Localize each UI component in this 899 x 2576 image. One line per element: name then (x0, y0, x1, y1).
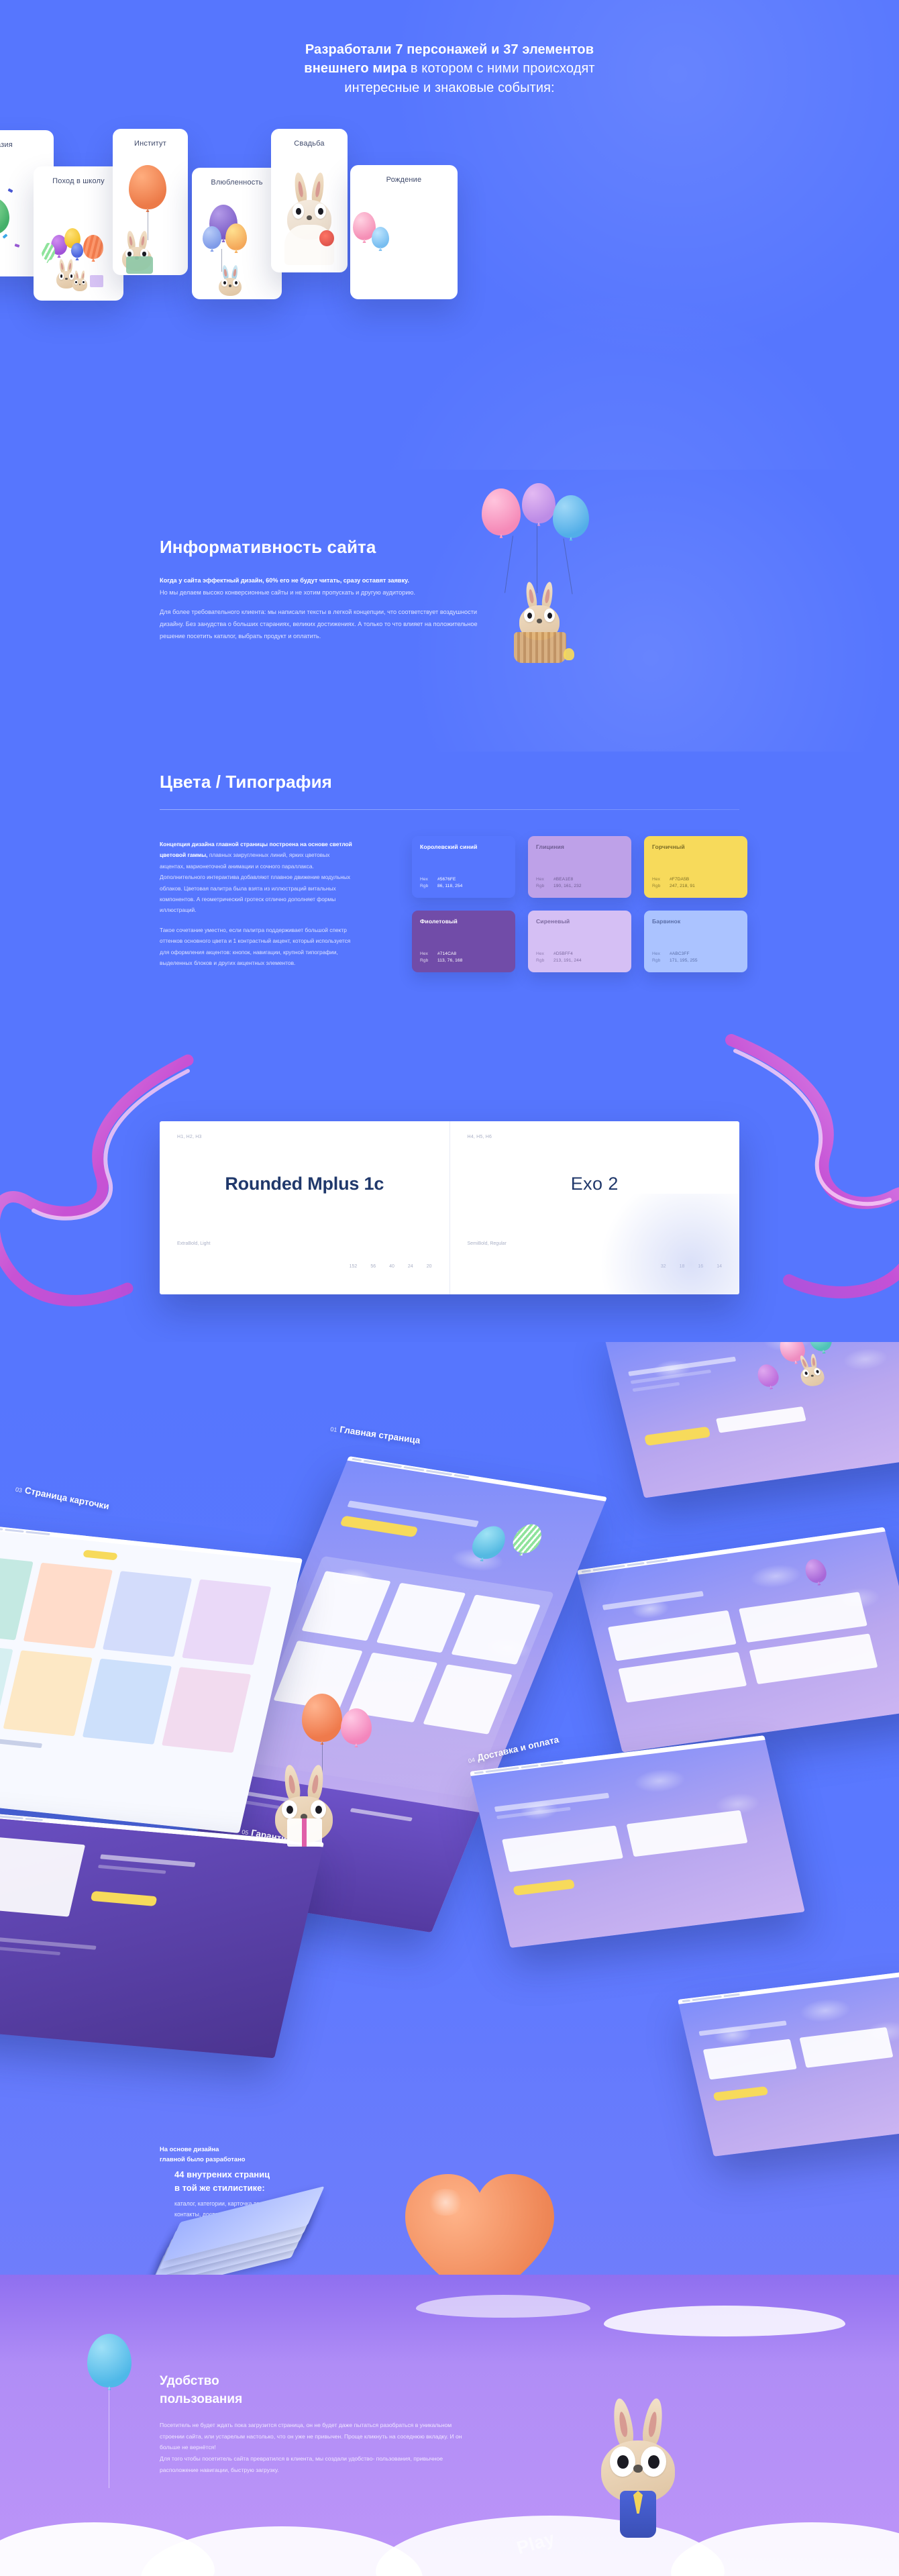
colors-copy: Концепция дизайна главной страницы постр… (160, 839, 353, 977)
color-swatch[interactable]: Королевский синий Hex#5676FE Rgb86, 118,… (412, 836, 515, 898)
note-line-2: 44 внутрених страниц в той же стилистике… (174, 2168, 381, 2195)
cloud-shape (671, 2522, 899, 2576)
typography-left: H1, H2, H3 Rounded Mplus 1c ExtraBold, L… (160, 1121, 449, 1294)
balloon (302, 1694, 342, 1742)
informativeness-body: Когда у сайта эффектный дизайн, 60% его … (160, 575, 482, 643)
bag (126, 256, 153, 274)
character-card-row: Гимназия Пох (0, 141, 899, 456)
color-swatch[interactable]: Барвинок Hex#ABC3FF Rgb171, 195, 255 (644, 911, 747, 972)
font-size-value: 152 (350, 1264, 358, 1269)
hero-title-line2-bold: внешнего мира (304, 61, 407, 76)
heart-shape (403, 2170, 557, 2275)
heart-balloon (403, 2170, 557, 2275)
hex-value: #F7DA5B (670, 877, 689, 882)
flying-bunny-illustration (263, 1718, 370, 1852)
character-card[interactable]: Поход в школу (34, 166, 123, 301)
mockup-screen-reviews[interactable] (577, 1527, 899, 1753)
colors-copy-1: плавных закругленных линий, ярких цветов… (160, 852, 350, 913)
balloon (341, 1708, 372, 1745)
color-swatch[interactable]: Глициния Hex#BEA1E8 Rgb190, 161, 232 (528, 836, 631, 898)
hex-label: Hex (536, 951, 553, 958)
font-size-value: 40 (389, 1264, 394, 1269)
mockup-screen-delivery[interactable] (470, 1735, 805, 1948)
usability-body: Посетитель не будет ждать пока загрузитс… (160, 2420, 475, 2476)
swatch-row: Королевский синий Hex#5676FE Rgb86, 118,… (412, 836, 747, 898)
rgb-value: 213, 191, 244 (553, 958, 582, 963)
font-size-value: 24 (408, 1264, 413, 1269)
note-line-1: На основе дизайна главной было разработа… (160, 2144, 381, 2164)
characters-section: Разработали 7 персонажей и 37 элементов … (0, 0, 899, 470)
hex-label: Hex (652, 951, 670, 958)
character-card[interactable]: Институт (113, 129, 188, 275)
color-swatch[interactable]: Фиолетовый Hex#714CA8 Rgb113, 76, 168 (412, 911, 515, 972)
swatch-name: Королевский синий (420, 843, 507, 850)
hex-label: Hex (536, 876, 553, 884)
balloon (87, 2334, 131, 2387)
informativeness-text-block: Информативность сайта Когда у сайта эффе… (160, 537, 482, 650)
info-p2: Для более требовательного клиента: мы на… (160, 607, 482, 643)
mockup-screen-discounts[interactable] (604, 1342, 899, 1498)
usability-section: Удобство пользования Посетитель не будет… (0, 2275, 899, 2576)
hex-value: #5676FE (437, 877, 456, 882)
usability-heading: Удобство пользования (160, 2373, 475, 2409)
hex-value: #ABC3FF (670, 951, 690, 956)
card-illustration (192, 197, 282, 299)
informativeness-section: Информативность сайта Когда у сайта эффе… (0, 470, 899, 752)
duckling (564, 648, 574, 660)
mockup-label-home: 01Главная страница (330, 1423, 421, 1446)
balloon (553, 495, 589, 538)
rgb-label: Rgb (536, 958, 553, 965)
typography-panel: H1, H2, H3 Rounded Mplus 1c ExtraBold, L… (160, 1121, 739, 1294)
balloon-string (563, 538, 572, 594)
mockup-label-product-card: 03Страница карточки (15, 1484, 110, 1512)
mockup-body (0, 1816, 323, 2058)
character-card[interactable]: Рождение (350, 165, 458, 299)
card-caption: Свадьба (271, 140, 348, 148)
heart-highlight (427, 2189, 464, 2216)
rgb-value: 190, 161, 232 (553, 884, 582, 888)
card-caption: Поход в школу (34, 177, 123, 185)
swatch-values: Hex#ABC3FF Rgb171, 195, 255 (652, 951, 698, 965)
swatch-name: Горчичный (652, 843, 739, 850)
mockup-body (679, 1976, 899, 2157)
swatch-name: Барвинок (652, 918, 739, 925)
gift-ribbon (302, 1818, 307, 1847)
cloud-shape (604, 2306, 845, 2336)
font-weights-label: ExtraBold, Light (177, 1241, 210, 1246)
ribbon-decoration-right (725, 1020, 899, 1308)
rgb-label: Rgb (652, 958, 670, 965)
balloon-string (109, 2387, 109, 2488)
card-illustration (113, 161, 188, 275)
color-swatch[interactable]: Горчичный Hex#F7DA5B Rgb247, 218, 91 (644, 836, 747, 898)
hex-value: #BEA1E8 (553, 877, 573, 882)
divider (160, 809, 739, 810)
balloon-string (505, 535, 513, 593)
hex-value: #D5BFF4 (553, 951, 573, 956)
confetti (7, 189, 13, 193)
swatch-name: Сиреневый (536, 918, 623, 925)
hex-label: Hex (652, 876, 670, 884)
balloon (482, 488, 521, 535)
swatch-row: Фиолетовый Hex#714CA8 Rgb113, 76, 168 Си… (412, 911, 747, 972)
mockup-screen-extra[interactable] (678, 1971, 899, 2157)
balloon (83, 235, 103, 259)
basket (514, 632, 566, 663)
hero-title-line3: интересные и знаковые события: (344, 81, 554, 95)
card-illustration (271, 160, 348, 272)
rgb-label: Rgb (420, 958, 437, 965)
hero-title: Разработали 7 персонажей и 37 элементов … (0, 40, 899, 97)
rgb-label: Rgb (420, 883, 437, 890)
balloon-string (537, 525, 537, 593)
panel-soft-shadow (578, 1194, 739, 1294)
balloon (203, 226, 221, 249)
mockups-section: 07Скидки 06Отзывы (0, 1342, 899, 2275)
font-family-name: Rounded Mplus 1c (160, 1174, 449, 1194)
font-sizes-list: 152 56 40 24 20 (350, 1264, 432, 1269)
card-caption: Рождение (350, 176, 458, 184)
rgb-label: Rgb (536, 883, 553, 890)
page-stack-illustration (156, 2205, 357, 2275)
color-swatch[interactable]: Сиреневый Hex#D5BFF4 Rgb213, 191, 244 (528, 911, 631, 972)
bouquet (319, 230, 334, 246)
typography-right: H4, H5, H6 Exo 2 SemiBold, Regular 32 18… (449, 1121, 740, 1294)
balloon (71, 243, 83, 258)
mockup-body (471, 1740, 805, 1948)
mockup-number: 04 (468, 1756, 476, 1764)
hero-title-line2-rest: в котором с ними происходят (407, 61, 594, 76)
balloon (372, 227, 389, 248)
info-p1-rest: Но мы делаем высоко конверсионные сайты … (160, 589, 415, 596)
hex-label: Hex (420, 876, 437, 884)
section-heading: Цвета / Типография (160, 772, 332, 792)
card-illustration (34, 196, 123, 301)
hero-title-line1: Разработали 7 персонажей и 37 элементов (305, 42, 594, 57)
swatch-values: Hex#BEA1E8 Rgb190, 161, 232 (536, 876, 582, 890)
mockup-title: Страница карточки (24, 1485, 110, 1511)
swatch-values: Hex#714CA8 Rgb113, 76, 168 (420, 951, 462, 965)
rgb-value: 86, 118, 254 (437, 884, 462, 888)
colors-typography-section: Цвета / Типография Концепция дизайна гла… (0, 752, 899, 1342)
font-size-value: 56 (370, 1264, 376, 1269)
swatch-name: Глициния (536, 843, 623, 850)
balloon (522, 483, 556, 523)
heading-levels-label: H1, H2, H3 (177, 1135, 432, 1139)
swatch-name: Фиолетовый (420, 918, 507, 925)
confetti (3, 234, 8, 239)
card-caption: Институт (113, 140, 188, 148)
font-family-name: Exo 2 (450, 1174, 740, 1194)
section-heading: Информативность сайта (160, 537, 482, 558)
bunny-character (219, 266, 242, 296)
card-caption: Влюбленность (192, 178, 282, 187)
color-swatch-grid: Королевский синий Hex#5676FE Rgb86, 118,… (412, 836, 747, 985)
balloon (129, 165, 166, 209)
hex-value: #714CA8 (437, 951, 456, 956)
rgb-label: Rgb (652, 883, 670, 890)
rgb-value: 171, 195, 255 (670, 958, 698, 963)
bunny-character (72, 271, 87, 291)
colors-copy-2: Такое сочетание уместно, если палитра по… (160, 925, 353, 969)
portfolio-page: Разработали 7 персонажей и 37 элементов … (0, 0, 899, 2576)
balloon-basket-illustration (470, 483, 671, 711)
info-strong: Когда у сайта эффектный дизайн, 60% его … (160, 577, 409, 584)
cloud-shape (416, 2295, 590, 2318)
font-size-value: 20 (427, 1264, 432, 1269)
mockup-body (605, 1342, 899, 1498)
font-weights-label: SemiBold, Regular (468, 1241, 507, 1246)
swatch-values: Hex#5676FE Rgb86, 118, 254 (420, 876, 462, 890)
usability-text-block: Удобство пользования Посетитель не будет… (160, 2373, 475, 2476)
balloon (0, 197, 9, 235)
card-caption: Гимназия (0, 141, 54, 149)
swatch-values: Hex#F7DA5B Rgb247, 218, 91 (652, 876, 695, 890)
mockup-number: 03 (15, 1486, 23, 1494)
gift-box (90, 275, 103, 287)
swatch-values: Hex#D5BFF4 Rgb213, 191, 244 (536, 951, 582, 965)
bunny-character-large (590, 2402, 691, 2557)
mockup-title: Главная страница (339, 1425, 421, 1446)
rgb-value: 247, 218, 91 (670, 884, 695, 888)
confetti (15, 244, 20, 248)
balloon (42, 243, 55, 260)
balloon (225, 223, 247, 250)
character-card[interactable]: Влюбленность (192, 168, 282, 299)
character-card[interactable]: Свадьба (271, 129, 348, 272)
card-illustration (350, 195, 458, 299)
heading-levels-label: H4, H5, H6 (468, 1135, 723, 1139)
rgb-value: 113, 76, 168 (437, 958, 462, 963)
mockup-number: 01 (330, 1426, 337, 1433)
hex-label: Hex (420, 951, 437, 958)
